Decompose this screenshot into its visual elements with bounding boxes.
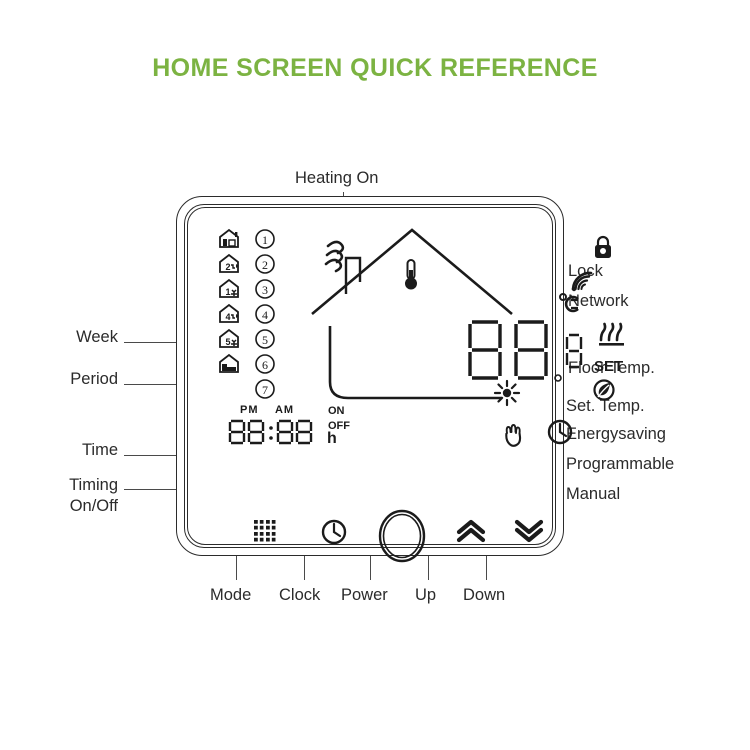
lcd-row-3: 1 3 bbox=[206, 276, 318, 301]
diagram-canvas: HOME SCREEN QUICK REFERENCE Heating On W… bbox=[0, 0, 750, 750]
callout-period: Period bbox=[46, 370, 118, 389]
power-button[interactable] bbox=[376, 508, 428, 564]
day-number-6: 6 bbox=[254, 353, 276, 375]
callout-energysaving: Energysaving bbox=[566, 425, 666, 444]
programmable-clock-icon bbox=[546, 418, 574, 446]
period-house-1-icon bbox=[218, 228, 242, 250]
lcd-screen: 1 2 bbox=[202, 220, 538, 482]
lcd-row-4: 4 4 bbox=[206, 301, 318, 326]
am-label: AM bbox=[275, 404, 294, 416]
callout-mode: Mode bbox=[210, 586, 251, 605]
energysaving-icon bbox=[591, 377, 617, 403]
callout-timing-onoff-line1: Timing bbox=[34, 476, 118, 495]
thermostat-device: 1 2 bbox=[176, 196, 564, 556]
callout-clock: Clock bbox=[279, 586, 320, 605]
network-wifi-icon bbox=[570, 270, 596, 292]
up-button[interactable] bbox=[456, 518, 486, 544]
lock-icon bbox=[592, 236, 614, 260]
degree-unit-label bbox=[558, 292, 582, 316]
thermometer-icon bbox=[402, 258, 420, 292]
callout-time: Time bbox=[56, 441, 118, 460]
clock-button[interactable] bbox=[320, 518, 348, 546]
pm-label: PM bbox=[240, 404, 259, 416]
svg-text:4: 4 bbox=[226, 312, 231, 322]
callout-manual: Manual bbox=[566, 485, 620, 504]
callout-down: Down bbox=[463, 586, 505, 605]
callout-timing-onoff-line2: On/Off bbox=[34, 497, 118, 516]
mode-button[interactable] bbox=[252, 518, 278, 544]
button-bar bbox=[228, 512, 564, 564]
decimal-point bbox=[554, 374, 562, 382]
svg-text:5: 5 bbox=[226, 337, 231, 347]
lcd-row-1: 1 bbox=[206, 226, 318, 251]
svg-text:4: 4 bbox=[262, 308, 268, 322]
svg-text:2: 2 bbox=[226, 262, 231, 272]
day-number-4: 4 bbox=[254, 303, 276, 325]
lcd-row-7: 7 bbox=[206, 376, 318, 401]
callout-power: Power bbox=[341, 586, 388, 605]
svg-text:6: 6 bbox=[262, 358, 268, 372]
period-house-4-icon: 4 bbox=[218, 303, 242, 325]
period-house-3-icon: 1 bbox=[218, 278, 242, 300]
clock-icon bbox=[320, 518, 348, 546]
svg-text:2: 2 bbox=[262, 258, 268, 272]
heating-wave-icon bbox=[324, 236, 352, 270]
page-title: HOME SCREEN QUICK REFERENCE bbox=[0, 54, 750, 83]
svg-text:7: 7 bbox=[262, 383, 268, 397]
day-number-7: 7 bbox=[254, 378, 276, 400]
power-oval-icon bbox=[376, 508, 428, 564]
day-number-5: 5 bbox=[254, 328, 276, 350]
callout-week: Week bbox=[58, 328, 118, 347]
lcd-row-6: 6 bbox=[206, 351, 318, 376]
floor-temp-icon bbox=[596, 320, 626, 350]
callout-up: Up bbox=[415, 586, 436, 605]
house-outline-area: SET bbox=[306, 222, 536, 437]
period-house-sleep-icon bbox=[218, 353, 242, 375]
sun-icon bbox=[494, 380, 520, 406]
grid-icon bbox=[252, 518, 278, 544]
day-number-1: 1 bbox=[254, 228, 276, 250]
set-temp-label: SET bbox=[594, 358, 623, 375]
svg-text:1: 1 bbox=[262, 233, 268, 247]
period-house-2-icon: 2 bbox=[218, 253, 242, 275]
svg-text:3: 3 bbox=[262, 283, 268, 297]
callout-programmable: Programmable bbox=[566, 455, 674, 474]
tenths-digit-display bbox=[564, 332, 584, 372]
period-house-5-icon: 5 bbox=[218, 328, 242, 350]
period-house-blank bbox=[218, 378, 242, 400]
lcd-row-2: 2 2 bbox=[206, 251, 318, 276]
svg-text:5: 5 bbox=[262, 333, 268, 347]
week-period-column: 1 2 bbox=[206, 226, 318, 401]
day-number-3: 3 bbox=[254, 278, 276, 300]
day-number-2: 2 bbox=[254, 253, 276, 275]
lcd-row-5: 5 5 bbox=[206, 326, 318, 351]
double-chevron-up-icon bbox=[456, 518, 486, 544]
manual-hand-icon bbox=[502, 422, 526, 448]
double-chevron-down-icon bbox=[514, 518, 544, 544]
down-button[interactable] bbox=[514, 518, 544, 544]
callout-heating-on: Heating On bbox=[295, 169, 378, 188]
svg-text:1: 1 bbox=[226, 287, 231, 297]
